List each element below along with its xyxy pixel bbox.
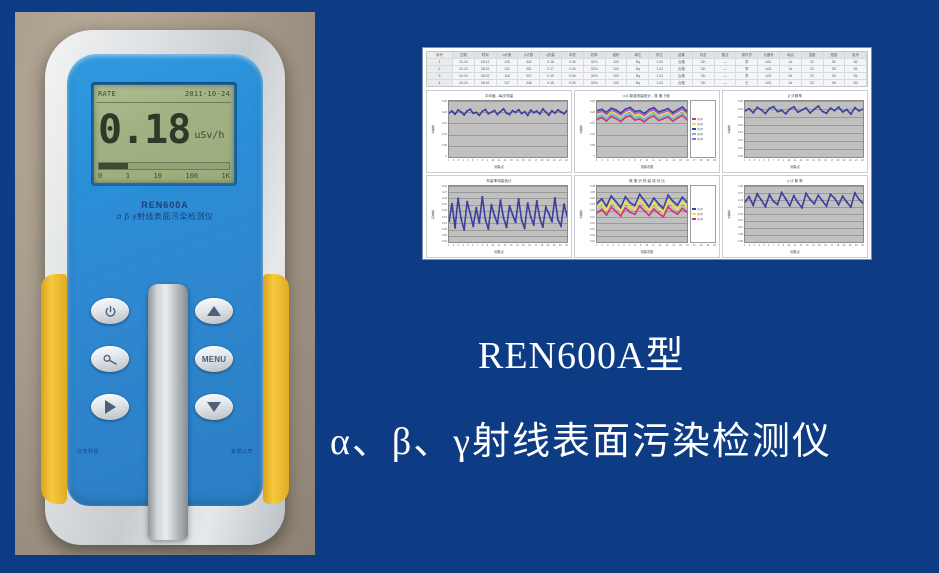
chart-data-point	[634, 111, 635, 113]
chart-y-tick: 0.19	[584, 203, 595, 206]
chart-data-point	[533, 112, 535, 114]
chart-y-ticks: 0.250.200.150.100.050	[584, 100, 596, 158]
chart-data-point	[842, 111, 844, 113]
table-cell: 批号	[845, 52, 867, 58]
lcd-status-right: 2011-10-24	[185, 90, 230, 98]
chart-data-point	[500, 199, 502, 201]
chart-data-point	[745, 110, 746, 112]
chart-y-tick: 0.19	[732, 116, 743, 119]
table-row[interactable]: 310-2408:321183370.190.0632%100Bq1.02合格O…	[427, 73, 867, 80]
chart-data-point	[463, 229, 465, 231]
table-row[interactable]: 110-2408:121253420.180.0632%100Bq1.02合格O…	[427, 59, 867, 66]
table-cell: 127	[497, 80, 519, 86]
chart-data-point	[625, 196, 626, 198]
chart-legend-item: 系列2	[692, 122, 714, 126]
chart-plot-area	[596, 100, 688, 158]
chart-data-point	[475, 207, 477, 209]
chart-legend-swatch	[692, 133, 696, 136]
chart-legend-swatch	[692, 208, 696, 211]
table-cell: 351	[518, 66, 540, 72]
chart-data-point	[658, 111, 659, 113]
chart-data-point	[524, 228, 526, 230]
table-cell: 仪器号	[758, 52, 780, 58]
chart-data-point	[789, 205, 791, 207]
chart-data-point	[667, 194, 668, 196]
product-model-title: REN600A型	[478, 332, 898, 380]
search-button[interactable]	[91, 346, 129, 372]
chart-data-point	[682, 108, 683, 110]
chart-legend-item: 系列4	[692, 132, 714, 136]
play-button[interactable]	[91, 394, 129, 420]
table-cell: 100	[606, 73, 628, 79]
table-cell: 面积	[606, 52, 628, 58]
table-cell: A01	[758, 66, 780, 72]
chart-data-point	[765, 113, 767, 115]
chart-data-point	[639, 194, 640, 196]
chart-data-point	[686, 117, 687, 119]
chart-data-point	[667, 110, 668, 112]
chart-data-point	[745, 201, 746, 203]
chart-data-point	[838, 106, 840, 108]
table-cell: 结果	[671, 52, 693, 58]
table-cell: 0.06	[562, 73, 584, 79]
table-cell: 55	[824, 66, 846, 72]
table-cell: 55	[824, 59, 846, 65]
lcd-status-bar: RATE 2011-10-24	[98, 87, 230, 101]
table-cell: 效率	[584, 52, 606, 58]
chart-data-point	[834, 197, 836, 199]
chart-data-point	[611, 206, 612, 208]
table-cell: Bq	[627, 73, 649, 79]
chart-alpha-count: 平均值 - 每次测量计数率0.250.200.150.100.050123456…	[426, 90, 572, 173]
chart-data-point	[625, 201, 626, 203]
table-cell: 备注	[715, 52, 737, 58]
chart-data-point	[658, 213, 659, 215]
chart-data-point	[606, 214, 607, 216]
software-screenshot-panel: 序号日期时间α计数β计数γ剂量本底效率面积单位修正结果判定备注操作员仪器号地点温…	[422, 47, 872, 260]
table-cell: —	[715, 73, 737, 79]
table-cell: OK	[693, 66, 715, 72]
chart-data-point	[634, 113, 635, 115]
lcd-unit: uSv/h	[194, 130, 224, 141]
chart-data-point	[597, 119, 598, 121]
table-cell: 118	[497, 73, 519, 79]
chart-data-point	[536, 110, 538, 112]
chart-data-point	[801, 207, 803, 209]
chart-data-point	[545, 206, 547, 208]
chart-data-point	[813, 108, 815, 110]
table-cell: 修正	[649, 52, 671, 58]
lcd-bargraph-fill	[99, 163, 128, 169]
chart-data-point	[557, 219, 559, 221]
chart-data-point	[777, 204, 779, 206]
table-cell: 李	[736, 59, 758, 65]
table-cell: 李	[736, 73, 758, 79]
table-cell: 合格	[671, 80, 693, 86]
chart-y-tick: 0.30	[436, 185, 447, 188]
table-cell: 单位	[627, 52, 649, 58]
chart-y-tick: 0.09	[732, 233, 743, 236]
lcd-scale: 01101001K	[98, 172, 230, 182]
chart-data-point	[805, 193, 807, 195]
chart-data-point	[682, 196, 683, 198]
chart-data-point	[545, 111, 547, 113]
chart-data-point	[620, 114, 621, 116]
table-cell: 2#	[780, 73, 802, 79]
chart-data-point	[663, 116, 664, 118]
chart-data-point	[686, 114, 687, 116]
chart-data-point	[634, 214, 635, 216]
chart-data-point	[497, 223, 499, 225]
table-cell: 10-24	[453, 66, 475, 72]
table-cell: 李	[736, 66, 758, 72]
chart-y-tick: 0.09	[436, 228, 447, 231]
chart-gridline	[449, 242, 567, 243]
chart-data-point	[542, 108, 544, 110]
chart-data-point	[630, 109, 631, 111]
chart-y-tick: 0.25	[584, 100, 595, 103]
chart-data-point	[530, 216, 532, 218]
table-cell: B1	[845, 59, 867, 65]
table-cell: 判定	[693, 52, 715, 58]
chart-data-point	[677, 213, 678, 215]
chart-data-point	[566, 110, 567, 112]
table-cell: —	[715, 80, 737, 86]
product-subtitle: α、β、γ射线表面污染检测仪	[330, 415, 930, 469]
chart-data-point	[817, 195, 819, 197]
chart-data-point	[625, 207, 626, 209]
table-cell: OK	[693, 59, 715, 65]
chart-data-point	[481, 111, 483, 113]
device-footnote: 北京科技 有限公司	[67, 448, 263, 455]
chart-y-tick: 0.27	[732, 192, 743, 195]
chart-data-point	[634, 205, 635, 207]
chart-data-point	[648, 210, 649, 212]
chart-data-point	[615, 201, 616, 203]
chart-multi-nuclide: α β 能谱测量统计 - 核 素 分析计数率0.250.200.150.100.…	[574, 90, 720, 173]
chart-data-point	[497, 114, 499, 116]
chart-data-point	[484, 218, 486, 220]
table-cell: 0.06	[562, 59, 584, 65]
chart-data-point	[648, 206, 649, 208]
lcd-scale-tick: 100	[185, 172, 198, 182]
lcd-bargraph	[98, 162, 230, 170]
chart-y-tick: 0.16	[584, 209, 595, 212]
chart-data-point	[653, 197, 654, 199]
chart-data-point	[644, 115, 645, 117]
chart-data-point	[515, 112, 517, 114]
chart-data-point	[563, 203, 565, 205]
chart-data-point	[667, 206, 668, 208]
table-cell: 22	[802, 66, 824, 72]
chart-data-point	[463, 114, 465, 116]
lcd-screen: RATE 2011-10-24 0.18 uSv/h 01101001K	[94, 85, 234, 183]
footnote-right: 有限公司	[231, 448, 253, 455]
chart-dose-rate: 剂量率测量统计剂量率0.300.270.240.210.180.150.120.…	[426, 175, 572, 258]
chart-y-tick: 0.06	[436, 234, 447, 237]
chart-y-tick: 0.22	[732, 108, 743, 111]
table-cell: Bq	[627, 80, 649, 86]
table-cell: 0.19	[540, 73, 562, 79]
chart-data-point	[785, 198, 787, 200]
chart-x-axis-label: 测量点	[726, 249, 864, 255]
chart-data-point	[469, 213, 471, 215]
chart-y-tick: 0.25	[732, 100, 743, 103]
chart-data-point	[765, 206, 767, 208]
table-cell: 合格	[671, 73, 693, 79]
chart-data-point	[826, 112, 828, 114]
chart-legend-swatch	[692, 213, 696, 216]
table-cell: B1	[845, 66, 867, 72]
chart-data-point	[557, 109, 559, 111]
chart-data-point	[663, 118, 664, 120]
chart-title: α β 能谱测量统计 - 核 素 分析	[578, 93, 716, 100]
table-cell: 0.06	[562, 66, 584, 72]
chart-plot-area	[744, 185, 864, 243]
chart-data-point	[653, 202, 654, 204]
table-cell: 日期	[453, 52, 475, 58]
chart-data-point	[533, 224, 535, 226]
nameplate-model: REN600A	[67, 200, 263, 210]
chart-y-tick: 0.13	[584, 216, 595, 219]
chart-data-point	[566, 215, 567, 217]
table-cell: 操作员	[736, 52, 758, 58]
chart-nuclide-band: 核 素 识 别 曲 线 对 比计数率0.280.250.220.190.160.…	[574, 175, 720, 258]
chart-data-point	[597, 207, 598, 209]
chart-data-point	[639, 205, 640, 207]
chart-data-point	[663, 216, 664, 218]
chart-y-tick: 0.10	[584, 133, 595, 136]
chart-data-point	[475, 112, 477, 114]
chart-data-point	[686, 211, 687, 213]
chart-data-point	[846, 201, 848, 203]
chart-data-point	[634, 117, 635, 119]
triangle-up-icon	[207, 306, 221, 316]
chart-data-point	[777, 111, 779, 113]
chart-data-point	[615, 211, 616, 213]
chart-data-point	[472, 113, 474, 115]
chart-data-point	[769, 194, 771, 196]
lcd-bezel: RATE 2011-10-24 0.18 uSv/h 01101001K	[91, 82, 237, 186]
chart-data-point	[648, 115, 649, 117]
chart-data-point	[503, 217, 505, 219]
chart-data-point	[601, 111, 602, 113]
lcd-divider	[97, 102, 231, 103]
chart-data-point	[677, 115, 678, 117]
chart-data-point	[625, 117, 626, 119]
chart-data-point	[518, 109, 520, 111]
chart-data-point	[606, 120, 607, 122]
chart-data-point	[491, 111, 493, 113]
chart-data-point	[858, 199, 860, 201]
play-icon	[105, 400, 116, 414]
chart-data-point	[797, 202, 799, 204]
chart-data-point	[682, 112, 683, 114]
up-button[interactable]	[195, 298, 233, 324]
chart-series-line	[745, 106, 863, 114]
chart-legend-label: 系列2	[697, 122, 703, 126]
chart-data-point	[484, 109, 486, 111]
chart-data-point	[842, 195, 844, 197]
menu-button[interactable]: MENU	[195, 346, 233, 372]
triangle-down-icon	[207, 402, 221, 412]
table-cell: 时间	[475, 52, 497, 58]
table-cell: 23	[802, 80, 824, 86]
table-cell: 08:12	[475, 59, 497, 65]
chart-data-point	[539, 113, 541, 115]
chart-data-point	[606, 206, 607, 208]
chart-data-point	[506, 112, 508, 114]
chart-y-tick: 0.10	[436, 133, 447, 136]
chart-x-axis-label: 测量点	[430, 164, 568, 170]
chart-legend-label: 系列5	[697, 137, 703, 141]
down-button[interactable]	[195, 394, 233, 420]
chart-data-point	[460, 111, 462, 113]
chart-data-point	[449, 112, 450, 114]
chart-data-point	[611, 116, 612, 118]
chart-legend-item: 系列3	[692, 127, 714, 131]
chart-y-ticks: 0.300.270.240.210.180.150.120.090.060.03	[436, 185, 448, 243]
chart-data-point	[686, 119, 687, 121]
chart-data-point	[672, 211, 673, 213]
chart-data-point	[597, 110, 598, 112]
chart-legend-item: 系列5	[692, 137, 714, 141]
table-cell: 0.17	[540, 66, 562, 72]
chart-data-point	[597, 116, 598, 118]
chart-data-point	[620, 207, 621, 209]
lcd-bargraph-track	[98, 162, 230, 170]
chart-data-point	[797, 111, 799, 113]
chart-data-point	[667, 116, 668, 118]
chart-data-point	[630, 113, 631, 115]
chart-title: γ 计 数 率	[726, 178, 864, 185]
chart-data-point	[682, 208, 683, 210]
table-cell: 100	[606, 66, 628, 72]
chart-data-point	[858, 110, 860, 112]
table-cell: 2	[427, 66, 453, 72]
chart-data-point	[615, 118, 616, 120]
chart-data-point	[478, 222, 480, 224]
chart-data-point	[451, 203, 453, 205]
chart-y-tick: 0.28	[584, 185, 595, 188]
table-cell: β计数	[518, 52, 540, 58]
table-row[interactable]: 210-2408:221313510.170.0632%100Bq1.02合格O…	[427, 66, 867, 73]
chart-y-ticks: 0.250.220.190.160.130.100.070.04	[732, 100, 744, 158]
chart-data-point	[653, 113, 654, 115]
chart-data-point	[813, 203, 815, 205]
chart-data-point	[672, 118, 673, 120]
device-grip-left	[41, 274, 67, 504]
chart-data-point	[469, 109, 471, 111]
chart-data-point	[752, 112, 754, 114]
chart-y-tick: 0.07	[732, 147, 743, 150]
chart-y-ticks: 0.300.270.240.210.180.150.120.090.06	[732, 185, 744, 243]
chart-y-tick: 0.05	[436, 144, 447, 147]
chart-data-point	[677, 109, 678, 111]
table-cell: 22	[802, 59, 824, 65]
chart-data-point	[781, 192, 783, 194]
chart-data-point	[597, 114, 598, 116]
chart-data-point	[809, 199, 811, 201]
chart-data-point	[748, 196, 750, 198]
table-cell: 337	[518, 73, 540, 79]
chart-data-point	[488, 228, 490, 230]
chart-data-point	[663, 112, 664, 114]
table-cell: 1#	[780, 59, 802, 65]
chart-y-tick: 0.15	[436, 122, 447, 125]
chart-y-tick: 0.21	[732, 206, 743, 209]
chart-y-tick: 0.05	[584, 144, 595, 147]
lcd-reading: 0.18 uSv/h	[98, 105, 230, 155]
chart-legend-swatch	[692, 123, 696, 126]
chart-data-point	[773, 106, 775, 108]
table-cell: 56	[824, 80, 846, 86]
table-cell: 1.02	[649, 59, 671, 65]
chart-data-point	[554, 112, 556, 114]
chart-data-point	[625, 108, 626, 110]
chart-data-point	[560, 225, 562, 227]
chart-y-tick: 0.18	[436, 209, 447, 212]
chart-data-point	[644, 204, 645, 206]
chart-data-point	[494, 215, 496, 217]
chart-data-point	[524, 111, 526, 113]
chart-data-point	[527, 202, 529, 204]
table-cell: 1.02	[649, 73, 671, 79]
chart-data-point	[677, 117, 678, 119]
table-cell: 08:22	[475, 66, 497, 72]
chart-data-point	[597, 203, 598, 205]
chart-title: β 计数率	[726, 93, 864, 100]
chart-data-point	[625, 114, 626, 116]
chart-data-point	[630, 206, 631, 208]
chart-legend-item: 系列1	[692, 207, 714, 211]
chart-data-point	[748, 108, 750, 110]
chart-data-point	[548, 213, 550, 215]
chart-data-point	[506, 227, 508, 229]
chart-data-point	[834, 110, 836, 112]
chart-data-point	[672, 200, 673, 202]
chart-data-point	[644, 210, 645, 212]
chart-data-point	[551, 221, 553, 223]
table-row[interactable]: 410-2408:421273460.180.0632%100Bq1.02合格O…	[427, 80, 867, 87]
chart-data-point	[793, 106, 795, 108]
chart-data-point	[653, 115, 654, 117]
chart-legend-label: 系列3	[697, 217, 703, 221]
chart-gamma-count: γ 计 数 率计数率0.300.270.240.210.180.150.120.…	[722, 175, 868, 258]
chart-y-tick: 0.21	[436, 203, 447, 206]
chart-data-point	[648, 111, 649, 113]
table-cell: A01	[758, 80, 780, 86]
chart-plot-area	[448, 100, 568, 158]
table-cell: γ剂量	[540, 52, 562, 58]
chart-data-point	[686, 202, 687, 204]
chart-data-point	[620, 211, 621, 213]
table-cell: 2#	[780, 80, 802, 86]
table-cell: 4	[427, 80, 453, 86]
chart-y-tick: 0.12	[732, 226, 743, 229]
table-cell: OK	[693, 73, 715, 79]
chart-y-tick: 0.13	[732, 131, 743, 134]
chart-data-point	[826, 205, 828, 207]
chart-data-point	[677, 111, 678, 113]
chart-data-point	[830, 194, 832, 196]
power-button[interactable]	[91, 298, 129, 324]
chart-y-tick: 0.15	[584, 122, 595, 125]
chart-data-point	[663, 211, 664, 213]
chart-data-point	[515, 222, 517, 224]
table-cell: 32%	[584, 66, 606, 72]
measurement-data-table: 序号日期时间α计数β计数γ剂量本底效率面积单位修正结果判定备注操作员仪器号地点温…	[426, 51, 868, 87]
